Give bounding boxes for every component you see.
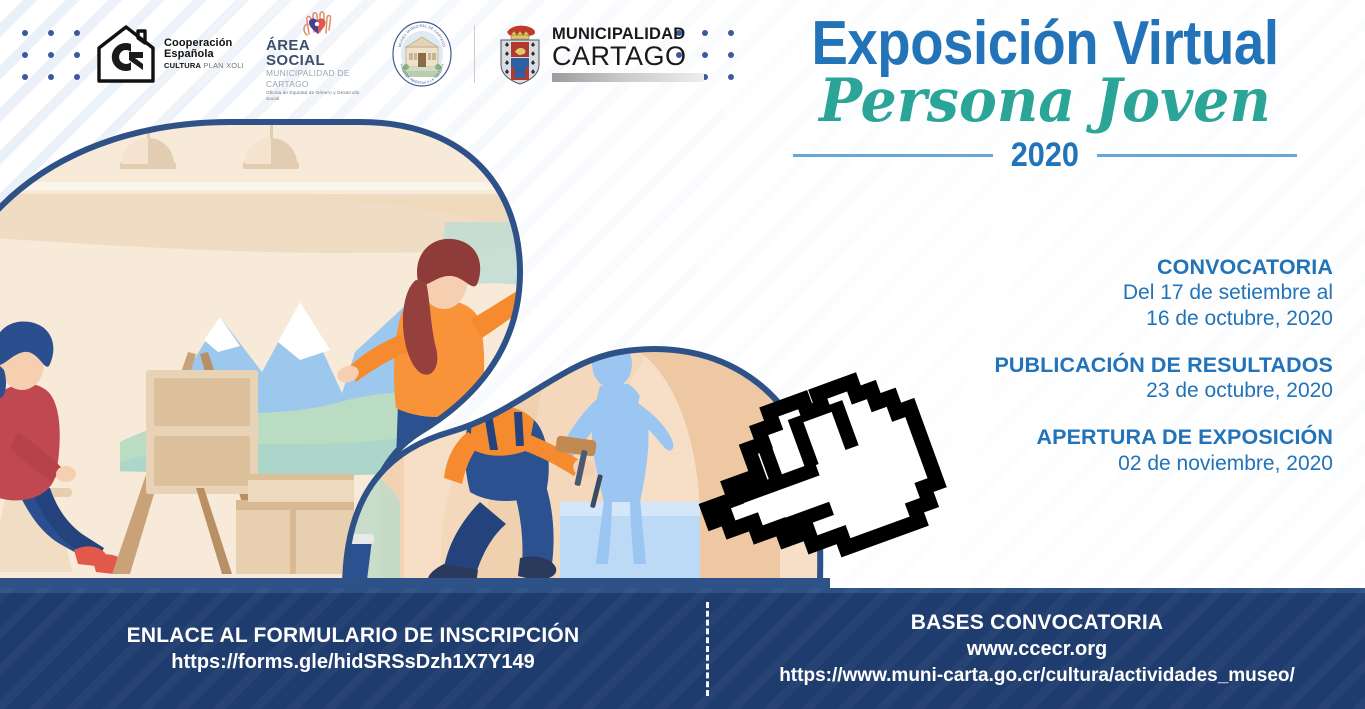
footer-registration-block: ENLACE AL FORMULARIO DE INSCRIPCIÓN http…	[0, 622, 706, 676]
date-body-line1: Del 17 de setiembre al	[903, 280, 1333, 305]
muni-line2: CARTAGO	[552, 43, 704, 70]
footer-bases-block: BASES CONVOCATORIA www.ccecr.org https:/…	[709, 609, 1365, 688]
date-item-publicacion-resultados: PUBLICACIÓN DE RESULTADOS 23 de octubre,…	[903, 353, 1333, 404]
muni-gradient-bar	[552, 73, 704, 82]
footer-left-heading: ENLACE AL FORMULARIO DE INSCRIPCIÓN	[18, 622, 688, 649]
logo-museo-municipal-cartago: MUSEO MUNICIPAL DE CARTAGO PUERTAS ABIER…	[392, 21, 452, 87]
title-year: 2020	[1011, 136, 1079, 175]
coop-line3: CULTURA PLAN XOLI	[164, 62, 244, 70]
year-rule-right	[1097, 154, 1297, 157]
house-c-icon	[95, 24, 157, 84]
date-heading: APERTURA DE EXPOSICIÓN	[903, 425, 1333, 450]
date-item-convocatoria: CONVOCATORIA Del 17 de setiembre al 16 d…	[903, 255, 1333, 331]
illustration-artists-gallery	[0, 102, 830, 589]
footer-right-heading: BASES CONVOCATORIA	[727, 609, 1347, 636]
hand-heart-icon	[299, 6, 337, 36]
cartago-coat-of-arms-icon	[497, 23, 543, 85]
date-item-apertura-exposicion: APERTURA DE EXPOSICIÓN 02 de noviembre, …	[903, 425, 1333, 476]
coop-line2: Española	[164, 49, 244, 60]
prop-canvas-stack	[236, 474, 354, 574]
date-body-line1: 02 de noviembre, 2020	[903, 451, 1333, 476]
year-rule-left	[793, 154, 993, 157]
muni-line1: MUNICIPALIDAD	[552, 26, 704, 43]
logo-area-social: ÁREA SOCIAL MUNICIPALIDAD DE CARTAGO Ofi…	[266, 6, 370, 103]
footer-ccecr-link[interactable]: www.ccecr.org	[727, 636, 1347, 662]
area-social-subtitle: MUNICIPALIDAD DE CARTAGO	[266, 68, 370, 91]
logo-cooperacion-text: Cooperación Española CULTURA PLAN XOLI	[164, 38, 244, 70]
municipalidad-text: MUNICIPALIDAD CARTAGO	[552, 26, 704, 83]
footer-registration-link[interactable]: https://forms.gle/hidSRSsDzh1X7Y149	[18, 649, 688, 675]
date-body-line2: 16 de octubre, 2020	[903, 306, 1333, 331]
title-year-row: 2020	[755, 136, 1335, 175]
date-body-line1: 23 de octubre, 2020	[903, 378, 1333, 403]
logo-divider	[474, 25, 475, 83]
poster-title: Exposición Virtual Persona Joven 2020	[755, 14, 1335, 175]
key-dates-list: CONVOCATORIA Del 17 de setiembre al 16 d…	[903, 255, 1333, 476]
poster-root: Cooperación Española CULTURA PLAN XOLI	[0, 0, 1365, 709]
date-heading: PUBLICACIÓN DE RESULTADOS	[903, 353, 1333, 378]
logo-municipalidad-cartago: MUNICIPALIDAD CARTAGO	[497, 23, 704, 85]
area-social-caption: Oficina de Equidad de Género y Desarroll…	[266, 90, 370, 102]
footer-dashed-divider	[706, 602, 709, 696]
sponsor-logos: Cooperación Española CULTURA PLAN XOLI	[95, 14, 704, 94]
logo-cooperacion-espanola: Cooperación Española CULTURA PLAN XOLI	[95, 24, 244, 84]
decorative-dot-grid-left	[22, 30, 100, 96]
title-line-persona-joven: Persona Joven	[770, 71, 1321, 132]
footer-museo-link[interactable]: https://www.muni-carta.go.cr/cultura/act…	[727, 663, 1347, 688]
area-social-title: ÁREA SOCIAL	[266, 38, 370, 68]
date-heading: CONVOCATORIA	[903, 255, 1333, 280]
footer-bar: ENLACE AL FORMULARIO DE INSCRIPCIÓN http…	[0, 588, 1365, 709]
